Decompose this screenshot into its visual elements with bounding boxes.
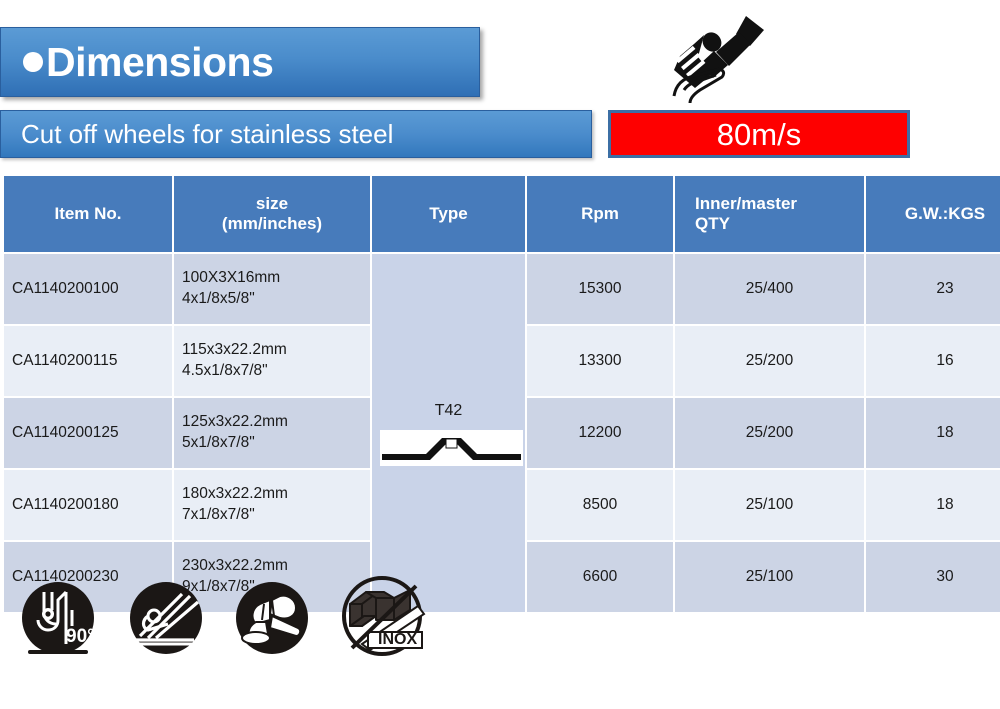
column-header-size: size (mm/inches): [174, 176, 370, 252]
angled-cutting-icon: [120, 580, 212, 660]
cut-angle-90-degree-icon: 90°: [14, 580, 106, 660]
column-header-gw: G.W.:KGS: [866, 176, 1000, 252]
cell-size-mm: 115x3x22.2mm: [182, 341, 287, 358]
cell-size-inches: 4.5x1/8x7/8": [182, 362, 268, 379]
subtitle-bar: Cut off wheels for stainless steel: [0, 110, 592, 158]
cell-rpm: 13300: [527, 326, 673, 396]
column-header-qty-line2: QTY: [695, 214, 730, 233]
cell-rpm: 12200: [527, 398, 673, 468]
angle-grinder-tool-icon: [226, 580, 318, 660]
cell-rpm: 6600: [527, 542, 673, 612]
cell-qty: 25/100: [675, 542, 864, 612]
cell-size: 115x3x22.2mm 4.5x1/8x7/8": [174, 326, 370, 396]
cell-item-no: CA1140200115: [4, 326, 172, 396]
specification-table: Item No. size (mm/inches) Type Rpm Inner…: [2, 174, 1000, 614]
inox-stainless-steel-material-icon: INOX: [332, 574, 432, 660]
cell-item-no: CA1140200125: [4, 398, 172, 468]
cell-size-mm: 230x3x22.2mm: [182, 557, 288, 574]
cell-type-merged: T42: [372, 254, 525, 612]
table-header-row: Item No. size (mm/inches) Type Rpm Inner…: [4, 176, 1000, 252]
speed-badge-value: 80m/s: [717, 119, 801, 150]
feature-icon-strip: 90°: [14, 574, 432, 660]
column-header-item-no: Item No.: [4, 176, 172, 252]
column-header-size-line2: (mm/inches): [222, 214, 322, 233]
column-header-rpm: Rpm: [527, 176, 673, 252]
cell-gw: 30: [866, 542, 1000, 612]
cell-size: 100X3X16mm 4x1/8x5/8": [174, 254, 370, 324]
column-header-qty: Inner/master QTY: [675, 176, 864, 252]
cut-angle-label: 90°: [66, 626, 95, 647]
type-value-label: T42: [380, 400, 517, 422]
cell-size-inches: 5x1/8x7/8": [182, 434, 255, 451]
page-title-bar: Dimensions: [0, 27, 480, 97]
subtitle-text: Cut off wheels for stainless steel: [21, 121, 393, 147]
speed-badge: 80m/s: [608, 110, 910, 158]
cell-size-mm: 180x3x22.2mm: [182, 485, 288, 502]
cell-size: 180x3x22.2mm 7x1/8x7/8": [174, 470, 370, 540]
cell-size-inches: 7x1/8x7/8": [182, 506, 255, 523]
table-row: CA1140200100 100X3X16mm 4x1/8x5/8" T42 1…: [4, 254, 1000, 324]
cell-qty: 25/200: [675, 326, 864, 396]
cell-gw: 18: [866, 470, 1000, 540]
bullet-dot-icon: [23, 52, 43, 72]
column-header-type: Type: [372, 176, 525, 252]
cell-qty: 25/400: [675, 254, 864, 324]
cell-gw: 23: [866, 254, 1000, 324]
column-header-qty-line1: Inner/master: [695, 194, 797, 213]
cell-item-no: CA1140200100: [4, 254, 172, 324]
cell-size: 125x3x22.2mm 5x1/8x7/8": [174, 398, 370, 468]
cell-gw: 16: [866, 326, 1000, 396]
cell-size-mm: 125x3x22.2mm: [182, 413, 288, 430]
cell-size-inches: 4x1/8x5/8": [182, 290, 255, 307]
cell-rpm: 8500: [527, 470, 673, 540]
cell-qty: 25/100: [675, 470, 864, 540]
inox-label: INOX: [378, 631, 417, 648]
page-title: Dimensions: [46, 42, 273, 83]
table-body: CA1140200100 100X3X16mm 4x1/8x5/8" T42 1…: [4, 254, 1000, 612]
cell-rpm: 15300: [527, 254, 673, 324]
cell-item-no: CA1140200180: [4, 470, 172, 540]
cell-qty: 25/200: [675, 398, 864, 468]
depressed-center-wheel-profile-icon: [380, 430, 523, 466]
cell-size-mm: 100X3X16mm: [182, 269, 280, 286]
cell-gw: 18: [866, 398, 1000, 468]
angle-grinder-icon: [650, 8, 770, 108]
column-header-size-line1: size: [256, 194, 288, 213]
